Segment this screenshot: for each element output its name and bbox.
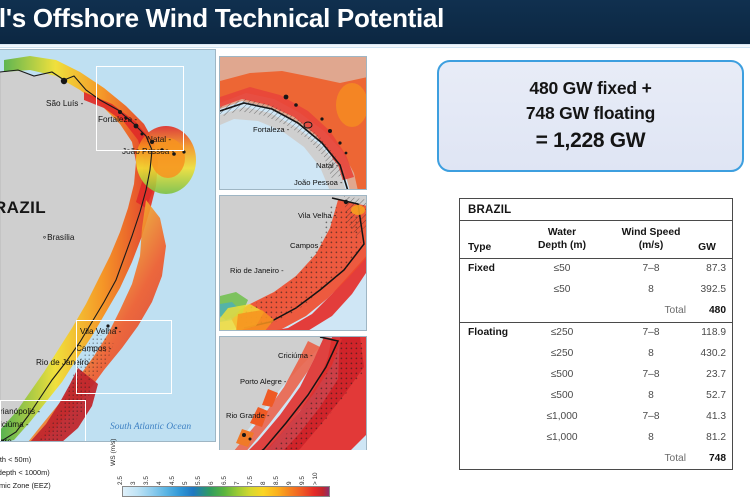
summary-callout: 480 GW fixed + 748 GW floating = 1,228 G…	[437, 60, 744, 172]
ws-tick-11: 8	[260, 481, 267, 485]
inset-city-criciuma: Criciúma -	[278, 351, 313, 360]
col-header-water-depth: Water Depth (m)	[516, 226, 608, 252]
cell-gw: 81.2	[656, 432, 726, 443]
ws-tick-12: 8.5	[273, 476, 280, 485]
cell-gw: 23.7	[656, 369, 726, 380]
inset-middle-graphic	[220, 196, 367, 331]
legend-key-list: r depth < 50m) ater depth < 1000m) conom…	[0, 453, 51, 492]
table-total-row-fixed: Total 480	[460, 301, 732, 322]
inset-outline-north	[96, 66, 184, 151]
header-divider	[0, 44, 750, 48]
inset-map-middle[interactable]: Vila Velha - Campos - Rio de Janeiro -	[219, 195, 367, 331]
legend-item-fixed: r depth < 50m)	[0, 453, 51, 466]
callout-line-total: = 1,228 GW	[536, 126, 646, 156]
potential-table: BRAZIL Type Water Depth (m) Wind Speed (…	[459, 198, 733, 470]
inset-city-natal: Natal -	[316, 161, 338, 170]
table-title: BRAZIL	[468, 204, 511, 216]
cell-depth: ≤50	[516, 263, 608, 274]
inset-city-porto-alegre: Porto Alegre -	[240, 377, 286, 386]
wind-speed-gradient-bar	[122, 486, 330, 497]
wind-speed-axis-label: WS (m/s)	[110, 439, 117, 466]
col-header-gw: GW	[688, 241, 726, 254]
row-type-floating: Floating	[468, 327, 508, 338]
inset-map-south[interactable]: Criciúma - Porto Alegre - Rio Grande -	[219, 336, 367, 460]
col-header-water-depth-line2: Depth (m)	[516, 239, 608, 252]
city-label-sao-luis: São Luís -	[46, 99, 83, 108]
inset-city-campos: Campos -	[290, 241, 323, 250]
table-row: ≤500 8 52.7	[460, 386, 732, 407]
cell-gw: 118.9	[656, 327, 726, 338]
ws-tick-6: 5.5	[195, 476, 202, 485]
main-map[interactable]: RAZIL South Atlantic Ocean São Luís - Fo…	[0, 49, 216, 442]
inset-city-vila-velha: Vila Velha -	[298, 211, 336, 220]
cell-depth: ≤250	[516, 348, 608, 359]
table-total-row-floating: Total 748	[460, 449, 732, 470]
ocean-label: South Atlantic Ocean	[110, 422, 191, 432]
table-row: ≤1,000 7–8 41.3	[460, 407, 732, 428]
cell-gw: 87.3	[656, 263, 726, 274]
cell-depth: ≤500	[516, 390, 608, 401]
inset-city-joao-pessoa: João Pessoa -	[294, 178, 343, 187]
ws-tick-10: 7.5	[247, 476, 254, 485]
legend-label-fixed: r depth < 50m)	[0, 455, 31, 464]
total-value: 480	[656, 305, 726, 316]
table-row: ≤500 7–8 23.7	[460, 365, 732, 386]
ws-tick-13: 9	[286, 481, 293, 485]
cell-depth: ≤50	[516, 284, 608, 295]
cell-gw: 52.7	[656, 390, 726, 401]
col-header-type: Type	[468, 241, 491, 254]
ws-tick-2: 3.5	[143, 476, 150, 485]
cell-depth: ≤1,000	[516, 432, 608, 443]
callout-line-fixed: 480 GW fixed +	[529, 76, 651, 101]
table-row: Floating ≤250 7–8 118.9	[460, 323, 732, 344]
col-header-wind-speed: Wind Speed (m/s)	[608, 226, 694, 252]
table-row: Fixed ≤50 7–8 87.3	[460, 259, 732, 280]
ws-tick-1: 3	[130, 481, 137, 485]
map-legend: r depth < 50m) ater depth < 1000m) conom…	[0, 450, 370, 500]
row-type-fixed: Fixed	[468, 263, 495, 274]
callout-line-floating: 748 GW floating	[526, 101, 655, 126]
ws-tick-5: 5	[182, 481, 189, 485]
total-value: 748	[656, 453, 726, 464]
inset-outline-middle	[76, 320, 172, 394]
legend-label-eez: conomic Zone (EEZ)	[0, 481, 51, 490]
inset-outline-south	[0, 400, 86, 442]
map-area: RAZIL South Atlantic Ocean São Luís - Fo…	[0, 49, 370, 449]
ws-tick-7: 6	[208, 481, 215, 485]
ws-tick-3: 4	[156, 481, 163, 485]
cell-depth: ≤1,000	[516, 411, 608, 422]
ws-tick-15: > 10	[312, 472, 319, 485]
page-title: il's Offshore Wind Technical Potential	[0, 3, 444, 34]
inset-city-fortaleza: Fortaleza -	[253, 125, 289, 134]
col-header-water-depth-line1: Water	[516, 226, 608, 239]
header-bar: il's Offshore Wind Technical Potential	[0, 0, 750, 44]
ws-tick-0: 2.5	[117, 476, 124, 485]
cell-gw: 430.2	[656, 348, 726, 359]
legend-item-eez: conomic Zone (EEZ)	[0, 479, 51, 492]
table-section-floating: Floating ≤250 7–8 118.9 ≤250 8 430.2 ≤50…	[460, 323, 732, 470]
col-header-wind-speed-line1: Wind Speed	[608, 226, 694, 239]
legend-item-floating: ater depth < 1000m)	[0, 466, 51, 479]
table-title-row: BRAZIL	[460, 199, 732, 221]
ws-tick-14: 9.5	[299, 476, 306, 485]
country-label: RAZIL	[0, 198, 46, 218]
col-header-wind-speed-line2: (m/s)	[608, 239, 694, 252]
table-row: ≤1,000 8 81.2	[460, 428, 732, 449]
legend-label-floating: ater depth < 1000m)	[0, 468, 50, 477]
ws-tick-8: 6.5	[221, 476, 228, 485]
table-header-row: Type Water Depth (m) Wind Speed (m/s) GW	[460, 221, 732, 259]
inset-city-rio-de-janeiro: Rio de Janeiro -	[230, 266, 284, 275]
table-row: ≤50 8 392.5	[460, 280, 732, 301]
cell-depth: ≤250	[516, 327, 608, 338]
wind-speed-tick-list: 2.5 3 3.5 4 4.5 5 5.5 6 6.5 7 7.5 8 8.5 …	[122, 452, 330, 485]
table-section-fixed: Fixed ≤50 7–8 87.3 ≤50 8 392.5 Total 480	[460, 259, 732, 323]
ws-tick-9: 7	[234, 481, 241, 485]
inset-north-graphic	[220, 57, 367, 190]
inset-city-rio-grande: Rio Grande -	[226, 411, 269, 420]
cell-depth: ≤500	[516, 369, 608, 380]
cell-gw: 392.5	[656, 284, 726, 295]
table-row: ≤250 8 430.2	[460, 344, 732, 365]
city-label-brasilia: ∘Brasília	[42, 232, 74, 242]
inset-map-north[interactable]: Fortaleza - Natal - João Pessoa -	[219, 56, 367, 190]
ws-tick-4: 4.5	[169, 476, 176, 485]
cell-gw: 41.3	[656, 411, 726, 422]
